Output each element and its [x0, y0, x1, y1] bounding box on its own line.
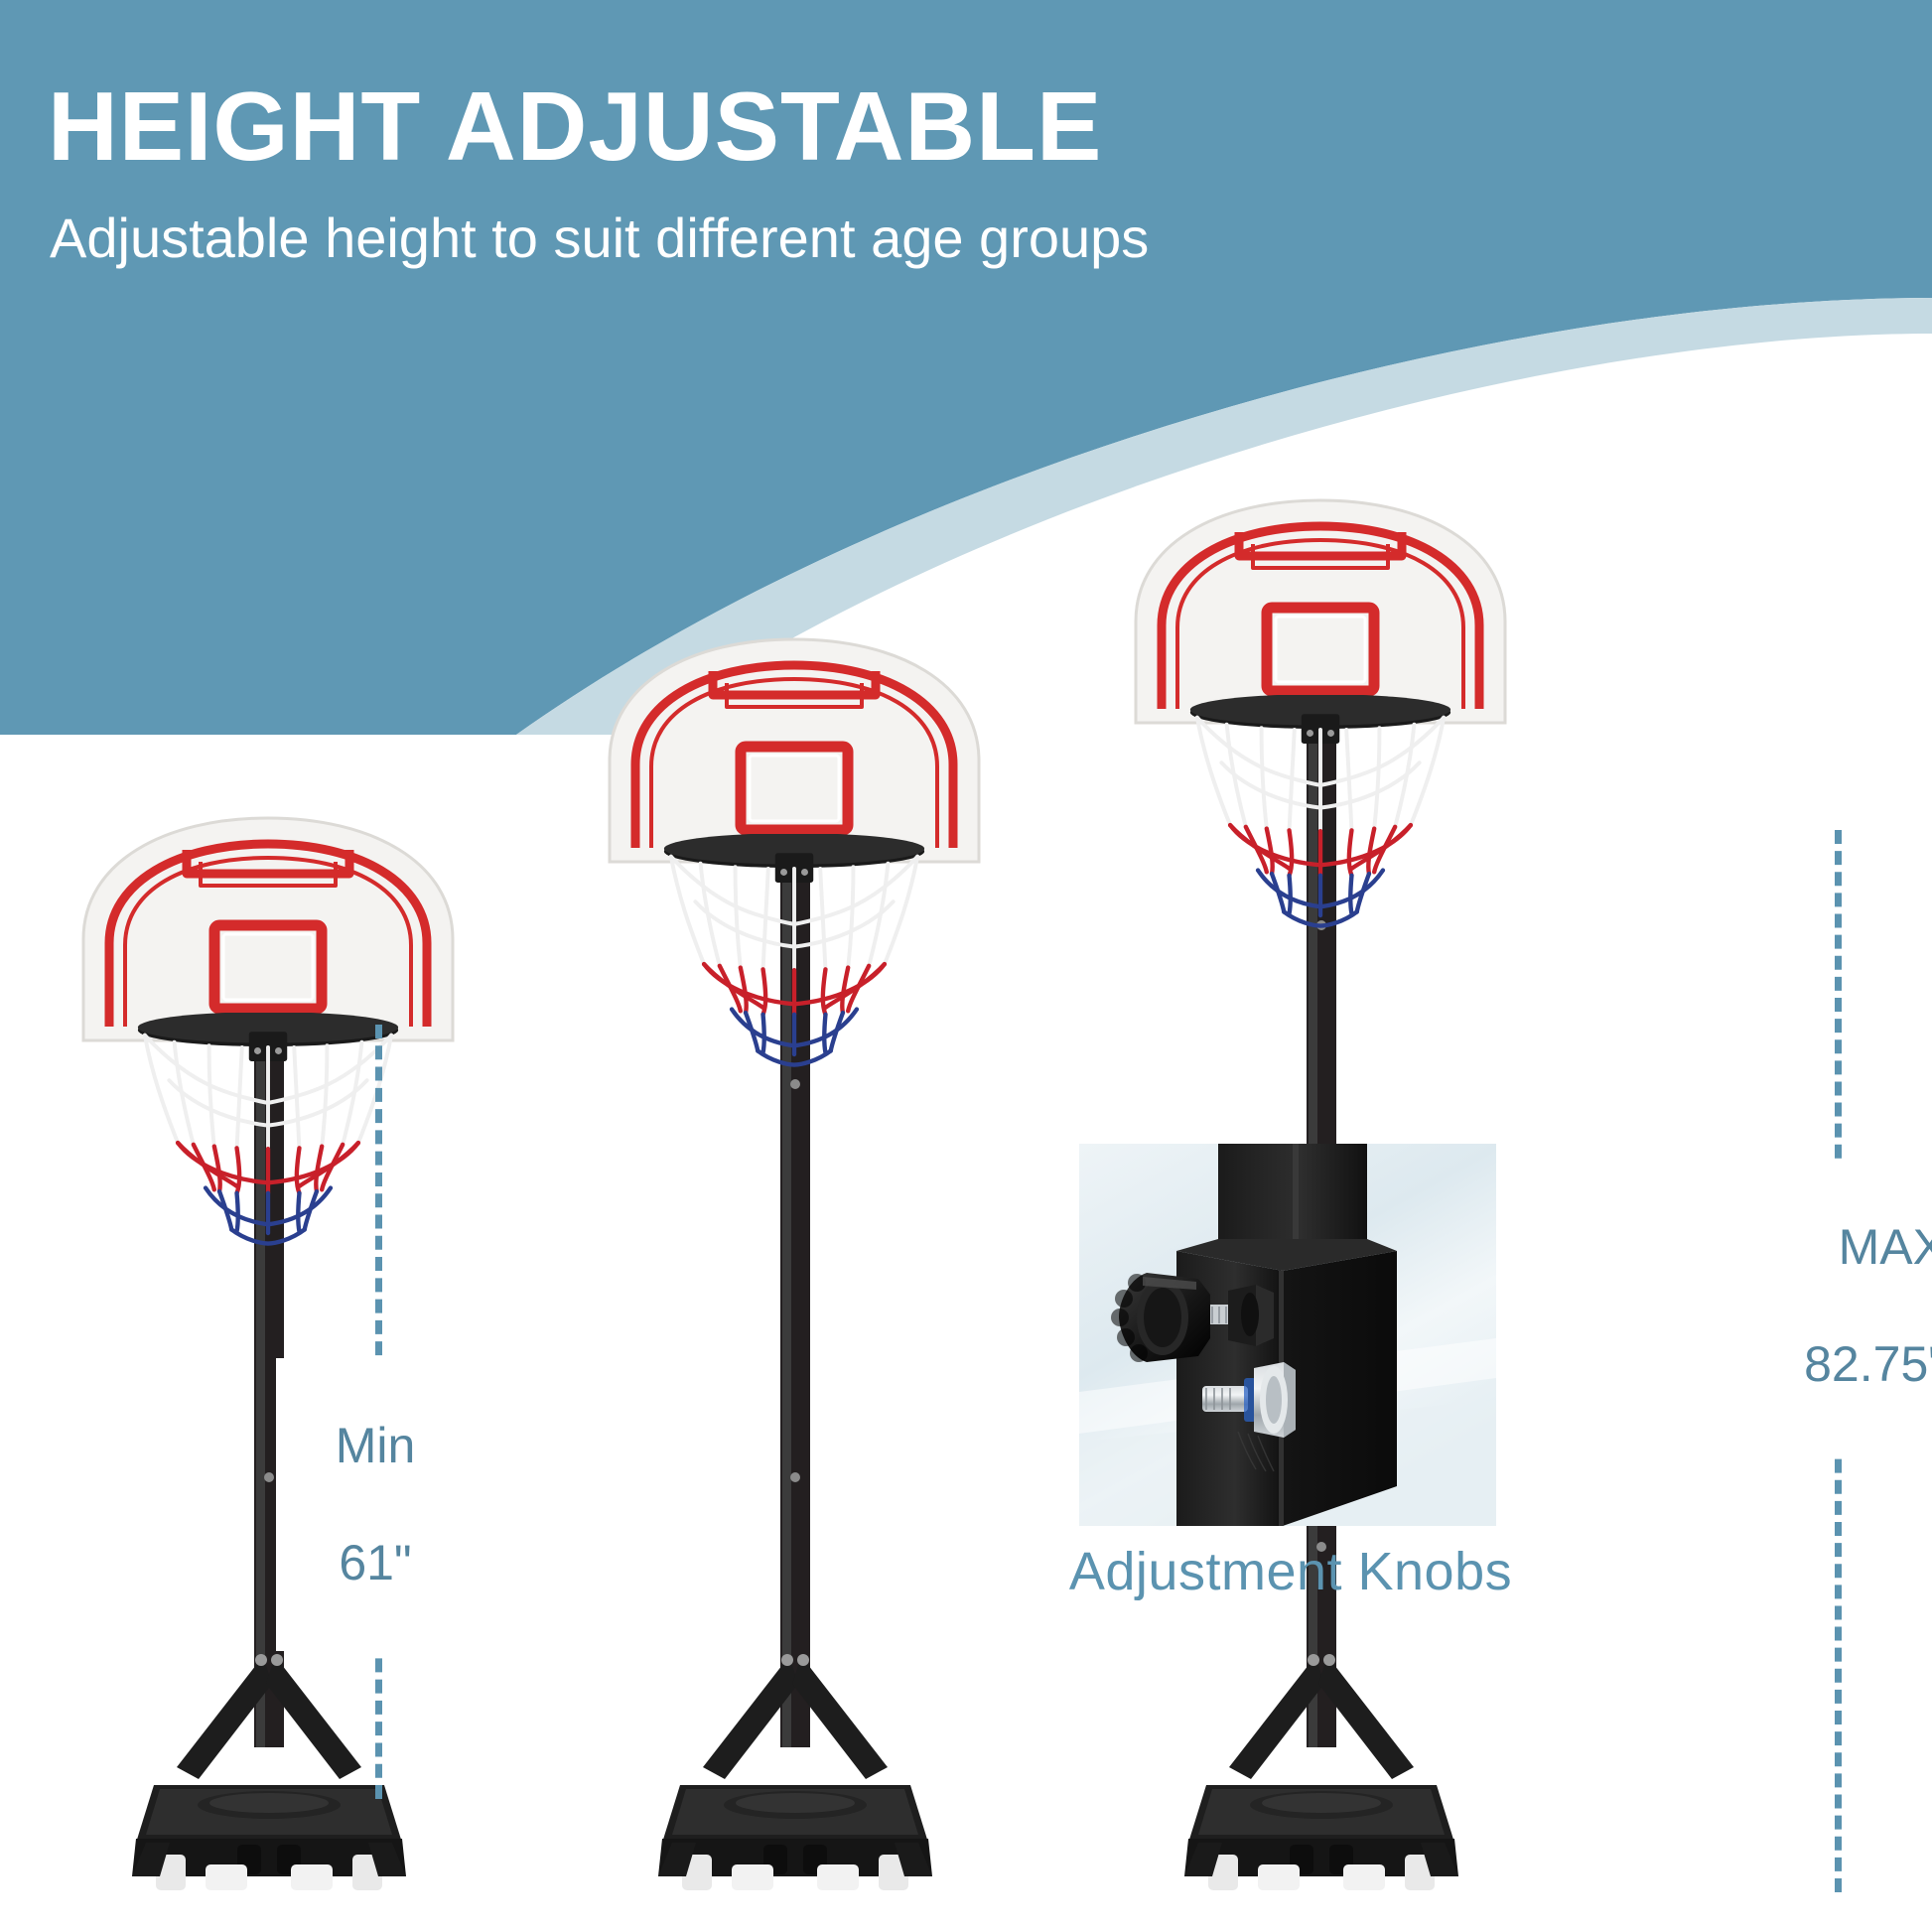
- inset-caption: Adjustment Knobs: [1028, 1541, 1554, 1602]
- max-label-line1: MAX: [1714, 1218, 1932, 1277]
- max-height-label: MAX 82.75": [1714, 1160, 1932, 1452]
- wheeled-base: [658, 1785, 932, 1890]
- backboard: [1136, 500, 1505, 723]
- rim-and-net: [1190, 694, 1450, 925]
- header-banner: HEIGHT ADJUSTABLE Adjustable height to s…: [0, 0, 1932, 735]
- min-height-label: Min 61": [276, 1358, 475, 1651]
- max-label-line2: 82.75": [1714, 1335, 1932, 1394]
- outer-pole-side: [1283, 1251, 1397, 1526]
- hoop-assembly-mid: [586, 635, 1003, 1906]
- wheeled-base: [132, 1785, 406, 1890]
- rim-and-net: [664, 833, 924, 1064]
- min-label-line1: Min: [276, 1417, 475, 1475]
- rim-and-net: [138, 1012, 398, 1243]
- page-title: HEIGHT ADJUSTABLE: [48, 77, 1102, 175]
- page-subtitle: Adjustable height to suit different age …: [50, 207, 1149, 270]
- wheeled-base: [1184, 1785, 1458, 1890]
- adjustment-knob-photo: [1079, 1144, 1496, 1526]
- backboard: [610, 639, 979, 862]
- infographic-canvas: HEIGHT ADJUSTABLE Adjustable height to s…: [0, 0, 1932, 1932]
- backboard: [83, 818, 453, 1040]
- min-label-line2: 61": [276, 1534, 475, 1592]
- hex-nut-icon: [1228, 1285, 1274, 1346]
